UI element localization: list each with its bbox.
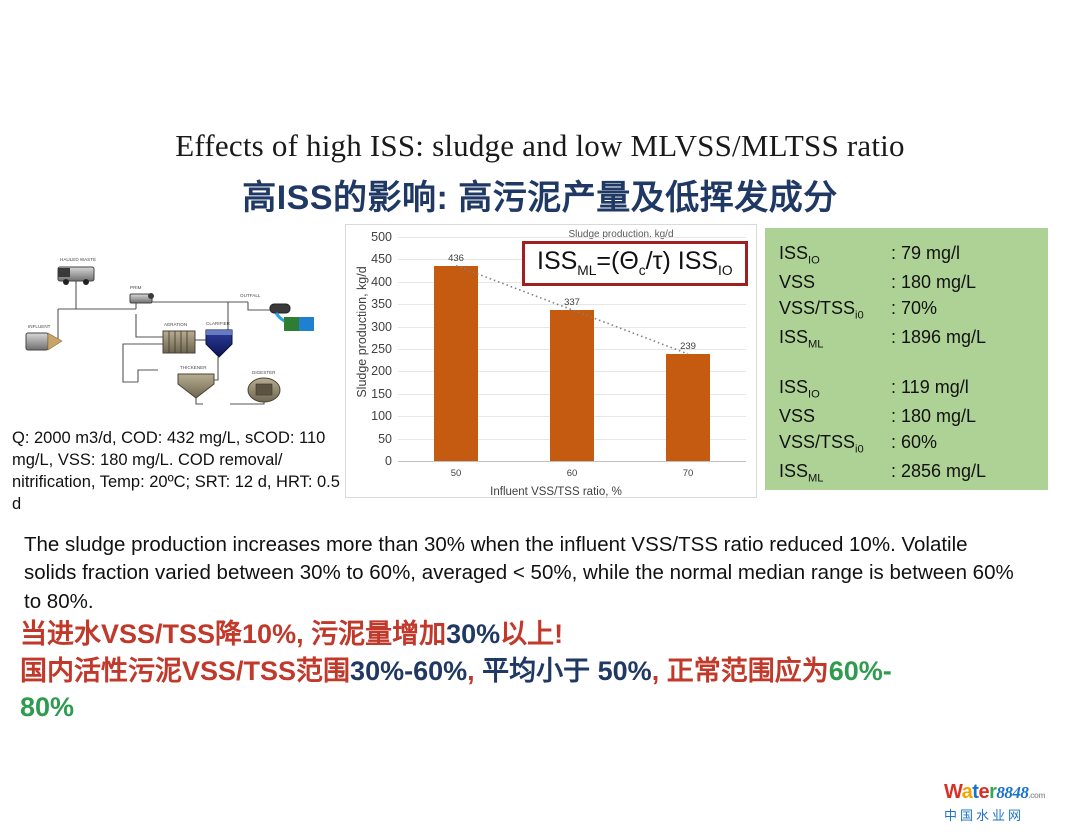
data-panel-value: : 180 mg/L: [891, 403, 1048, 429]
data-panel-row: ISSIO: 119 mg/l: [779, 374, 1048, 403]
conclusion-segment: , 正常范围应为: [652, 656, 829, 686]
svg-text:INFLUENT: INFLUENT: [28, 324, 51, 329]
data-panel-key: ISSIO: [779, 374, 891, 403]
formula-lhs: ISS: [537, 247, 577, 275]
data-panel-value: : 1896 mg/L: [891, 324, 1048, 353]
data-panel-row: VSS: 180 mg/L: [779, 269, 1048, 295]
watermark-number: 8848: [996, 783, 1028, 802]
formula-mid: =(Θ: [596, 247, 638, 275]
data-panel-key: ISSIO: [779, 240, 891, 269]
data-panel-row: VSS/TSSi0: 70%: [779, 295, 1048, 324]
data-panel-key-subscript: i0: [855, 444, 864, 456]
chart-y-tick: 50: [378, 432, 392, 446]
data-block-spacer: [779, 352, 1048, 374]
chart-y-axis-label: Sludge production, kg/d: [355, 232, 369, 432]
sludge-production-chart: Sludge production, kg/d Sludge productio…: [345, 224, 757, 498]
chart-gridline: 500: [398, 237, 746, 238]
data-panel-key: ISSML: [779, 324, 891, 353]
watermark-letter: a: [962, 781, 973, 803]
conclusion-segment: 80%: [20, 692, 74, 722]
data-panel-key: ISSML: [779, 458, 891, 487]
svg-text:THICKENER: THICKENER: [180, 365, 207, 370]
watermark-letter: W: [944, 781, 962, 803]
chart-bar-value-label: 239: [680, 341, 696, 352]
data-panel-key-subscript: ML: [808, 338, 824, 350]
conclusion-chinese: 当进水VSS/TSS降10%, 污泥量增加30%以上!国内活性污泥VSS/TSS…: [20, 616, 1070, 726]
data-panel-value: : 180 mg/L: [891, 269, 1048, 295]
chart-y-tick: 250: [371, 342, 392, 356]
chart-gridline: 0: [398, 461, 746, 462]
formula-callout: ISSML=(Θc/τ) ISSIO: [522, 241, 748, 286]
body-paragraph-english: The sludge production increases more tha…: [24, 531, 1024, 616]
chart-y-tick: 200: [371, 364, 392, 378]
aeration-basin: AERATION: [163, 322, 195, 353]
chart-y-tick: 100: [371, 409, 392, 423]
conclusion-line: 国内活性污泥VSS/TSS范围30%-60%, 平均小于 50%, 正常范围应为…: [20, 653, 1070, 690]
data-panel-row: ISSML: 2856 mg/L: [779, 458, 1048, 487]
formula-mid-sub: c: [639, 263, 646, 278]
svg-text:DIGESTER: DIGESTER: [252, 370, 276, 375]
chart-bar: [434, 266, 478, 461]
thickener: THICKENER: [178, 365, 214, 398]
chart-bar: [666, 354, 710, 461]
chart-x-tick: 50: [451, 468, 462, 479]
chart-bar-value-label: 337: [564, 297, 580, 308]
conclusion-segment: 平均小于 50%: [482, 656, 652, 686]
process-parameters-caption: Q: 2000 m3/d, COD: 432 mg/L, sCOD: 110 m…: [12, 428, 352, 516]
conclusion-segment: 以上!: [500, 619, 563, 649]
formula-rhs-sub: IO: [718, 263, 733, 278]
chart-x-axis-label: Influent VSS/TSS ratio, %: [406, 486, 706, 498]
data-panel-value: : 79 mg/l: [891, 240, 1048, 269]
data-panel-key-subscript: IO: [808, 389, 820, 401]
svg-text:HAULED WASTE: HAULED WASTE: [60, 257, 96, 262]
data-panel-key: VSS/TSSi0: [779, 429, 891, 458]
chart-y-tick: 400: [371, 275, 392, 289]
conclusion-segment: 30%: [446, 619, 500, 649]
svg-text:PRIM: PRIM: [130, 285, 142, 290]
data-panel-row: VSS: 180 mg/L: [779, 403, 1048, 429]
chart-x-tick: 60: [567, 468, 578, 479]
watermark-letter: e: [978, 781, 989, 803]
watermark-wordmark: Water8848.com: [944, 782, 1068, 802]
digester: DIGESTER: [248, 370, 280, 402]
svg-text:CLARIFIER: CLARIFIER: [206, 321, 231, 326]
data-panel-key-subscript: i0: [855, 309, 864, 321]
svg-text:AERATION: AERATION: [164, 322, 187, 327]
data-panel-value: : 70%: [891, 295, 1048, 324]
data-panel-key: VSS: [779, 403, 891, 429]
iss-data-panel: ISSIO: 79 mg/lVSS: 180 mg/LVSS/TSSi0: 70…: [765, 228, 1048, 490]
formula-mid2: /τ) ISS: [646, 247, 718, 275]
chart-x-tick: 70: [683, 468, 694, 479]
chart-y-tick: 500: [371, 230, 392, 244]
conclusion-line: 当进水VSS/TSS降10%, 污泥量增加30%以上!: [20, 616, 1070, 653]
chart-bar: [550, 310, 594, 461]
chart-y-tick: 300: [371, 320, 392, 334]
data-panel-key-subscript: ML: [808, 473, 824, 485]
data-panel-row: VSS/TSSi0: 60%: [779, 429, 1048, 458]
primary-treatment: PRIM: [130, 285, 154, 303]
conclusion-segment: 国内活性污泥VSS/TSS范围: [20, 656, 350, 686]
outfall: OUTFALL: [240, 293, 314, 331]
data-panel-row: ISSIO: 79 mg/l: [779, 240, 1048, 269]
chart-y-tick: 350: [371, 297, 392, 311]
slide-title-english: Effects of high ISS: sludge and low MLVS…: [0, 128, 1080, 164]
data-panel-key-subscript: IO: [808, 255, 820, 267]
chart-y-tick: 450: [371, 252, 392, 266]
data-panel-row: ISSML: 1896 mg/L: [779, 324, 1048, 353]
data-panel-key: VSS/TSSi0: [779, 295, 891, 324]
chart-bar-value-label: 436: [448, 253, 464, 264]
process-flow-diagram: HAULED WASTE INFLUENT PRIM AERATION: [18, 232, 338, 422]
watermark-domain: .com: [1028, 791, 1045, 800]
slide-canvas: Effects of high ISS: sludge and low MLVS…: [0, 0, 1080, 834]
conclusion-line: 80%: [20, 689, 1070, 726]
conclusion-segment: 30%-60%: [350, 656, 467, 686]
chart-y-tick: 0: [385, 454, 392, 468]
watermark-logo: Water8848.com 中国水业网: [944, 782, 1068, 828]
influent-pump: INFLUENT: [26, 324, 62, 350]
data-panel-value: : 60%: [891, 429, 1048, 458]
data-panel-value: : 2856 mg/L: [891, 458, 1048, 487]
watermark-subtitle: 中国水业网: [944, 805, 1068, 824]
slide-title-chinese: 高ISS的影响: 高污泥产量及低挥发成分: [0, 170, 1080, 219]
data-panel-value: : 119 mg/l: [891, 374, 1048, 403]
conclusion-segment: 当进水VSS/TSS降10%, 污泥量增加: [20, 619, 446, 649]
hauled-waste-truck: HAULED WASTE: [58, 257, 96, 285]
conclusion-segment: 60%-: [829, 656, 892, 686]
svg-text:OUTFALL: OUTFALL: [240, 293, 261, 298]
conclusion-segment: ,: [467, 656, 482, 686]
data-panel-key: VSS: [779, 269, 891, 295]
chart-y-tick: 150: [371, 387, 392, 401]
formula-lhs-sub: ML: [577, 263, 596, 278]
